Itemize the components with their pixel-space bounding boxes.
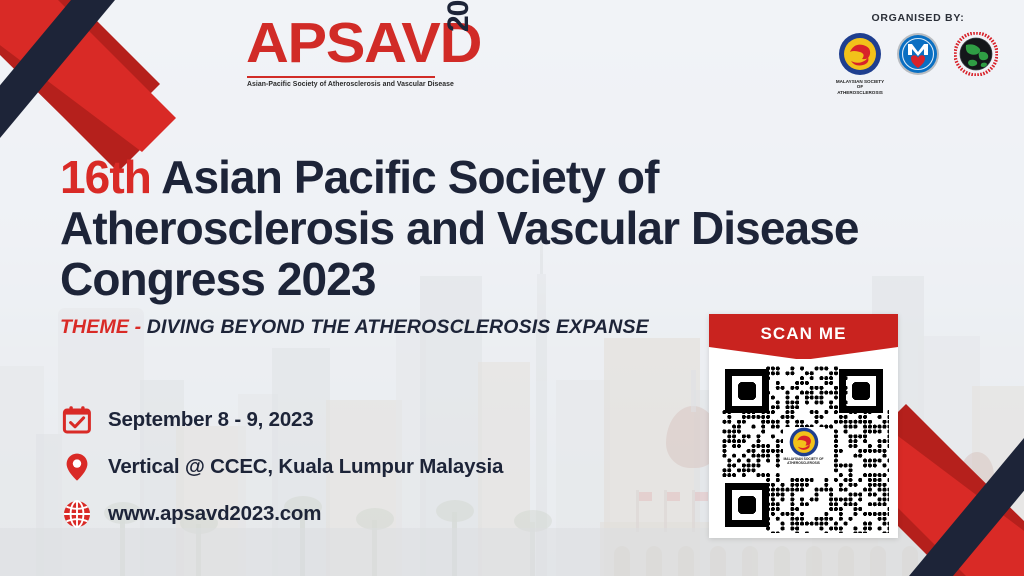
malaysian-society-of-atherosclerosis-logo [838, 32, 882, 76]
logo-rule [247, 76, 435, 78]
event-title-rest: Asian Pacific Society of Atherosclerosis… [60, 151, 859, 305]
location-pin-icon [60, 450, 94, 484]
organiser-logo-3 [951, 32, 1001, 79]
qr-center-logo-caption: MALAYSIAN SOCIETY OF ATHEROSCLEROSIS [783, 458, 825, 466]
detail-website-text: www.apsavd2023.com [108, 502, 321, 526]
detail-date-text: September 8 - 9, 2023 [108, 408, 313, 432]
organised-by-label: ORGANISED BY: [830, 12, 1006, 24]
detail-row-date: September 8 - 9, 2023 [60, 398, 503, 442]
event-title: 16th Asian Pacific Society of Atheroscle… [60, 152, 1000, 305]
organiser-logo-1-caption: MALAYSIAN SOCIETY OF ATHEROSCLEROSIS [835, 79, 885, 95]
event-details: September 8 - 9, 2023 Vertical @ CCEC, K… [60, 398, 503, 539]
m-heart-logo [896, 32, 940, 76]
apsavd-logo: APSAVD Asian-Pacific Society of Atherosc… [246, 14, 491, 96]
event-theme-text: DIVING BEYOND THE ATHEROSCLEROSIS EXPANS… [147, 316, 649, 338]
globe-icon [60, 497, 94, 531]
organiser-logo-1: MALAYSIAN SOCIETY OF ATHEROSCLEROSIS [835, 32, 885, 95]
organiser-logo-2 [893, 32, 943, 79]
calendar-check-icon [60, 403, 94, 437]
organised-by-block: ORGANISED BY: MALAYSIAN SOCIETY OF ATHER… [830, 12, 1006, 95]
event-theme: THEME - DIVING BEYOND THE ATHEROSCLEROSI… [60, 316, 649, 339]
scan-me-header: SCAN ME [709, 314, 898, 359]
qr-center-logo: MALAYSIAN SOCIETY OF ATHEROSCLEROSIS [783, 427, 825, 469]
apsavd-tagline: Asian-Pacific Society of Atherosclerosis… [247, 80, 441, 88]
asian-pacific-society-globe-logo [954, 32, 998, 76]
conference-banner: APSAVD Asian-Pacific Society of Atherosc… [0, 0, 1024, 576]
qr-code[interactable]: MALAYSIAN SOCIETY OF ATHEROSCLEROSIS [719, 363, 889, 533]
event-title-ordinal: 16th [60, 151, 151, 203]
detail-row-venue: Vertical @ CCEC, Kuala Lumpur Malaysia [60, 445, 503, 489]
event-theme-label: THEME - [60, 316, 141, 338]
detail-venue-text: Vertical @ CCEC, Kuala Lumpur Malaysia [108, 455, 503, 479]
scan-me-card[interactable]: SCAN ME [709, 314, 898, 538]
detail-row-website[interactable]: www.apsavd2023.com [60, 492, 503, 536]
apsavd-year: 2023 [442, 0, 476, 32]
